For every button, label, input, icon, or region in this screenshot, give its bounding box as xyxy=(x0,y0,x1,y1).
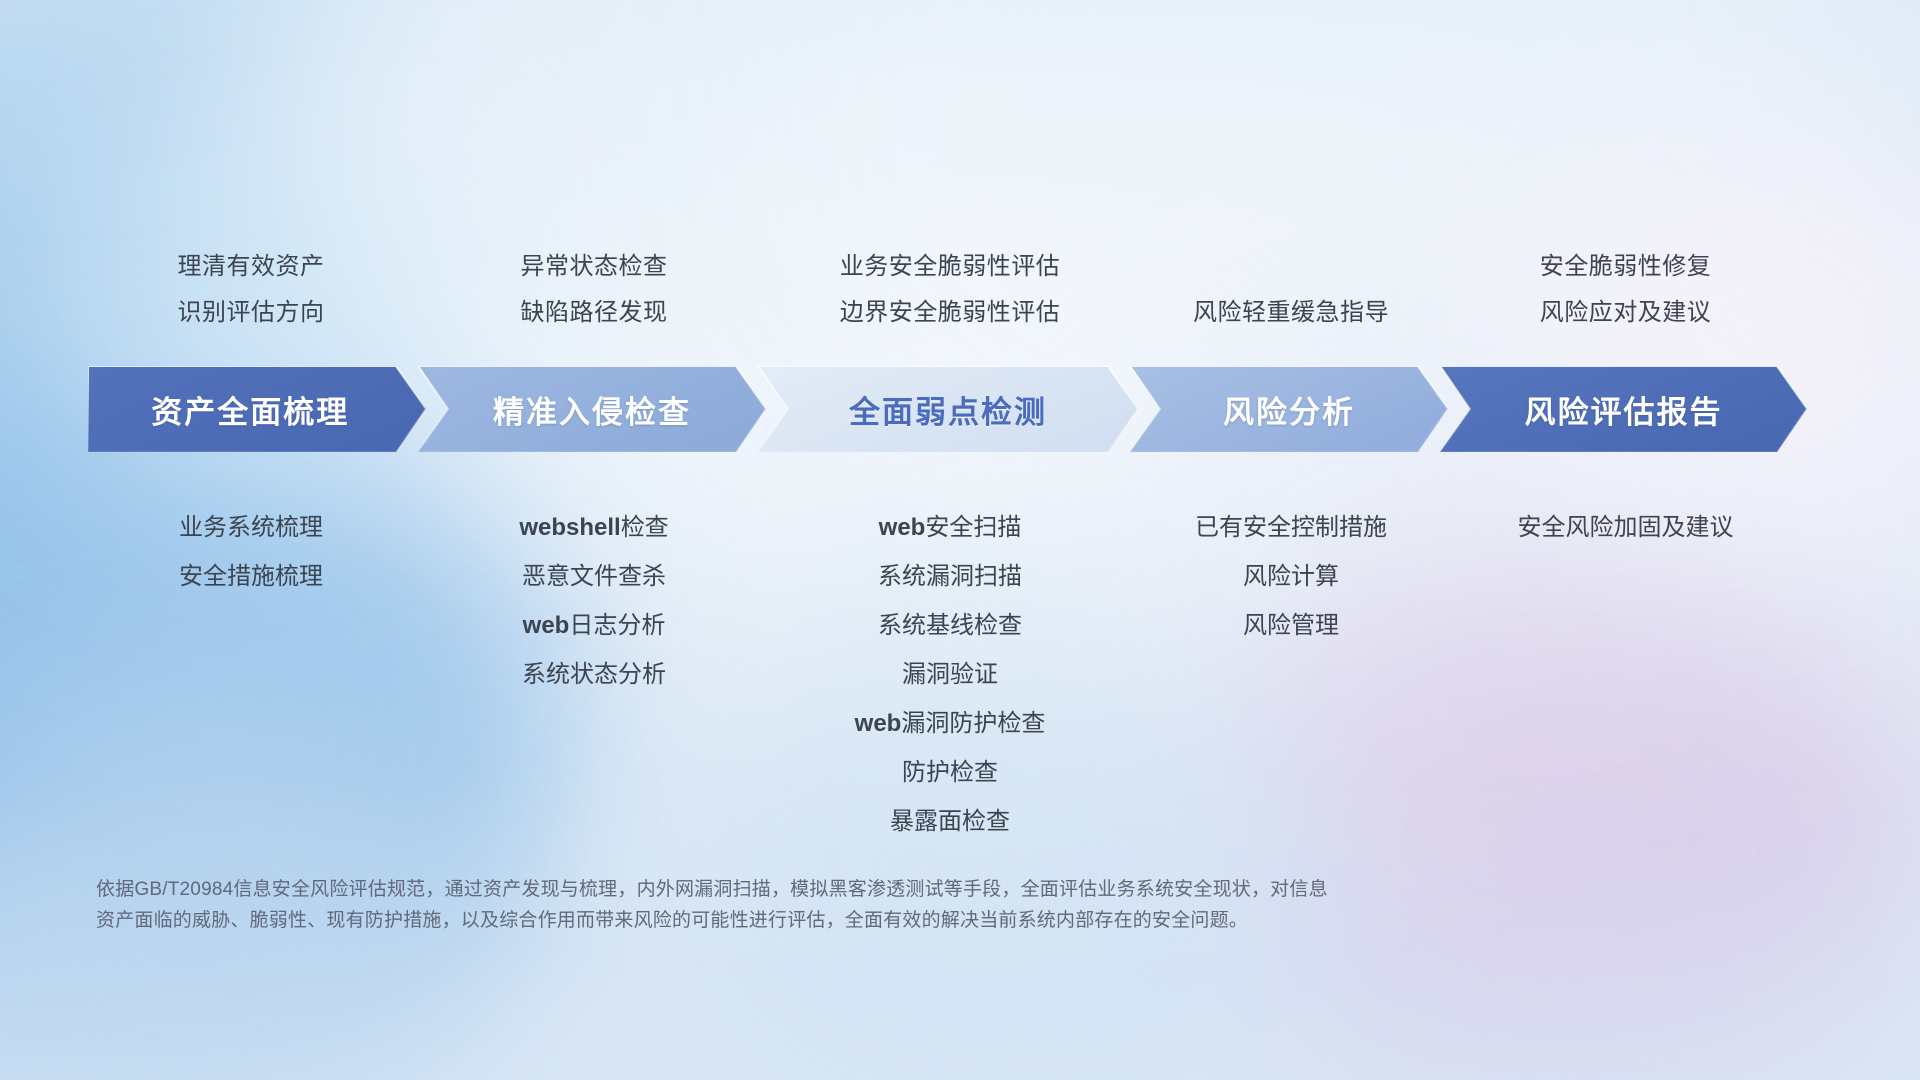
bottom-note-item: 风险计算 xyxy=(331,552,1920,601)
bottom-note-item: web漏洞防护检查 xyxy=(0,699,1910,748)
footer-line-1: 依据GB/T20984信息安全风险评估规范，通过资产发现与梳理，内外网漏洞扫描，… xyxy=(96,874,1636,905)
chevron-stage-5[interactable]: 风险评估报告 xyxy=(1440,366,1807,452)
chevron-stage-3[interactable]: 全面弱点检测 xyxy=(758,366,1138,452)
bottom-note-item: 安全风险加固及建议 xyxy=(666,503,1920,552)
bottom-note-item: 暴露面检查 xyxy=(0,797,1910,846)
chevron-band: 资产全面梳理精准入侵检查全面弱点检测风险分析风险评估报告 xyxy=(88,366,1839,452)
footer-description: 依据GB/T20984信息安全风险评估规范，通过资产发现与梳理，内外网漏洞扫描，… xyxy=(96,874,1636,936)
process-diagram: 理清有效资产识别评估方向 异常状态检查缺陷路径发现 业务安全脆弱性评估边界安全脆… xyxy=(0,0,1920,1080)
bottom-note-item: 漏洞验证 xyxy=(0,650,1910,699)
chevron-title-3: 全面弱点检测 xyxy=(849,387,1047,432)
top-note-item: 安全脆弱性修复 xyxy=(666,244,1920,290)
chevron-title-4: 风险分析 xyxy=(1223,387,1355,432)
chevron-title-1: 资产全面梳理 xyxy=(151,387,349,432)
chevron-title-5: 风险评估报告 xyxy=(1525,387,1723,432)
chevron-stage-2[interactable]: 精准入侵检查 xyxy=(418,366,766,452)
bottom-note-item: 防护检查 xyxy=(0,748,1910,797)
top-note-item: 风险应对及建议 xyxy=(666,290,1920,336)
chevron-stage-1[interactable]: 资产全面梳理 xyxy=(88,366,426,452)
chevron-stage-4[interactable]: 风险分析 xyxy=(1130,366,1448,452)
bottom-note-item: 风险管理 xyxy=(331,601,1920,650)
footer-line-2: 资产面临的威胁、脆弱性、现有防护措施，以及综合作用而带来风险的可能性进行评估，全… xyxy=(96,905,1636,936)
bottom-notes-stage-5: 安全风险加固及建议 xyxy=(666,503,1920,552)
chevron-title-2: 精准入侵检查 xyxy=(493,387,691,432)
top-notes-stage-5: 安全脆弱性修复风险应对及建议 xyxy=(666,244,1920,336)
